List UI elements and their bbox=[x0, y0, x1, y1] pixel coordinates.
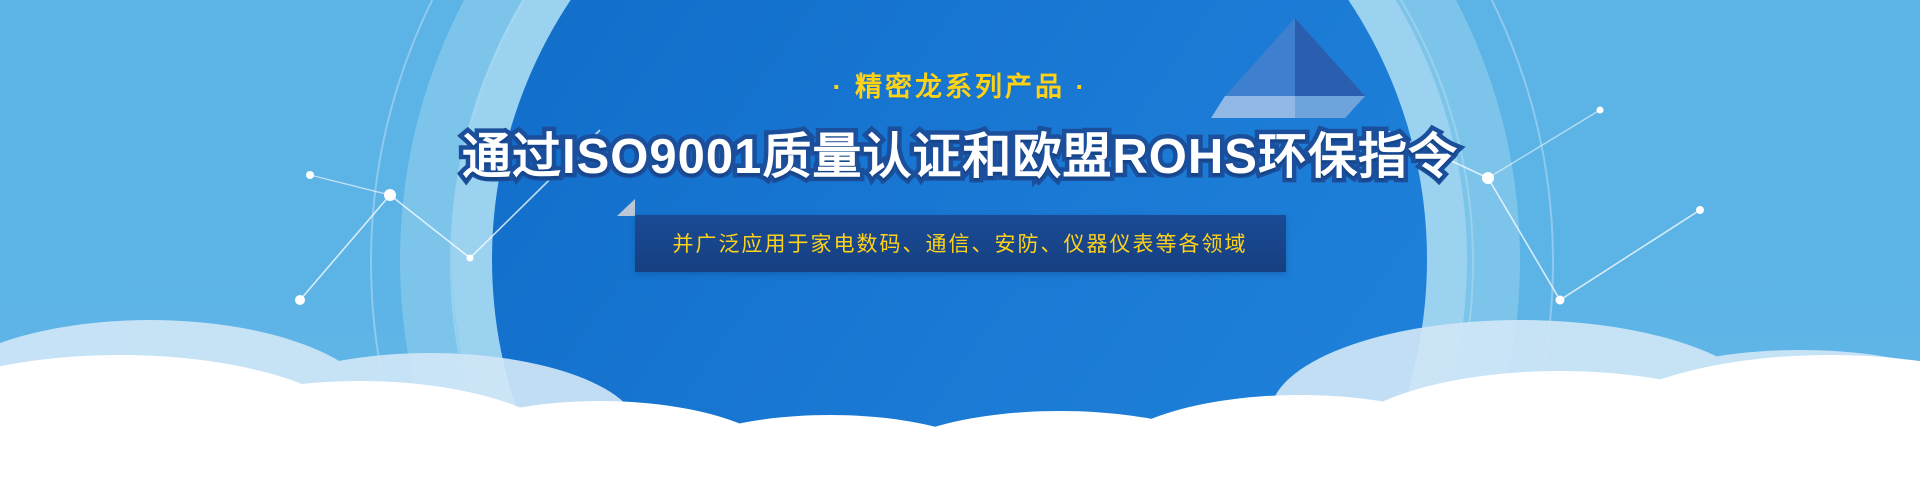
banner-subtitle: 并广泛应用于家电数码、通信、安防、仪器仪表等各领域 bbox=[635, 215, 1286, 272]
subtitle-ribbon-wrap: 并广泛应用于家电数码、通信、安防、仪器仪表等各领域 bbox=[635, 215, 1286, 272]
banner-headline: 通过ISO9001质量认证和欧盟ROHS环保指令 bbox=[462, 131, 1458, 185]
banner-content: · 精密龙系列产品 · 通过ISO9001质量认证和欧盟ROHS环保指令 并广泛… bbox=[0, 0, 1920, 480]
ribbon-fold-icon bbox=[617, 199, 635, 216]
promo-banner: · 精密龙系列产品 · 通过ISO9001质量认证和欧盟ROHS环保指令 并广泛… bbox=[0, 0, 1920, 480]
banner-eyebrow: · 精密龙系列产品 · bbox=[833, 74, 1088, 101]
